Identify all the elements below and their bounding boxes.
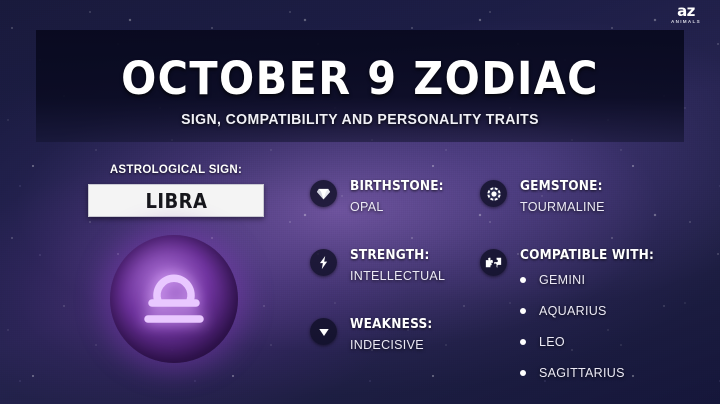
gem-icon [480, 180, 507, 207]
attribute-value-weakness: INDECISIVE [350, 338, 442, 352]
attribute-label-compatible-with: COMPATIBLE WITH: [520, 247, 654, 263]
infographic-canvas: az ANIMALS OCTOBER 9 ZODIAC SIGN, COMPAT… [0, 0, 720, 404]
attribute-row-weakness: WEAKNESS: INDECISIVE [310, 316, 442, 352]
header-band: OCTOBER 9 ZODIAC SIGN, COMPATIBILITY AND… [36, 30, 684, 142]
astrological-sign-value-box: LIBRA [88, 184, 264, 217]
bullet-icon [520, 370, 526, 376]
attribute-text-gemstone: GEMSTONE: TOURMALINE [520, 178, 612, 214]
attribute-value-gemstone: TOURMALINE [520, 200, 612, 214]
attribute-text-weakness: WEAKNESS: INDECISIVE [350, 316, 442, 352]
attribute-row-gemstone: GEMSTONE: TOURMALINE [480, 178, 612, 214]
astrological-sign-label: ASTROLOGICAL SIGN: [88, 164, 264, 176]
list-item: LEO [520, 335, 669, 349]
az-animals-logo[interactable]: az ANIMALS [664, 4, 708, 28]
attribute-value-birthstone: OPAL [350, 200, 454, 214]
attribute-row-compatible-with: COMPATIBLE WITH: GEMINI AQUARIUS LEO SAG… [480, 247, 669, 397]
attribute-text-birthstone: BIRTHSTONE: OPAL [350, 178, 454, 214]
astrological-sign-value: LIBRA [145, 189, 207, 213]
attribute-text-strength: STRENGTH: INTELLECTUAL [350, 247, 445, 283]
list-item: AQUARIUS [520, 304, 669, 318]
attribute-text-compatible-with: COMPATIBLE WITH: GEMINI AQUARIUS LEO SAG… [520, 247, 669, 397]
brand-tagline: ANIMALS [664, 19, 708, 25]
compatible-sign-label: LEO [539, 335, 565, 349]
lightning-bolt-icon [310, 249, 337, 276]
attribute-value-strength: INTELLECTUAL [350, 269, 445, 283]
page-title: OCTOBER 9 ZODIAC [62, 56, 658, 102]
bullet-icon [520, 308, 526, 314]
astrological-sign-block: ASTROLOGICAL SIGN: LIBRA [88, 164, 264, 217]
puzzle-pieces-icon [480, 249, 507, 276]
compatible-sign-label: AQUARIUS [539, 304, 607, 318]
compatible-sign-label: SAGITTARIUS [539, 366, 625, 380]
page-subtitle: SIGN, COMPATIBILITY AND PERSONALITY TRAI… [46, 112, 675, 128]
attribute-label-birthstone: BIRTHSTONE: [350, 178, 444, 194]
compatible-sign-label: GEMINI [539, 273, 585, 287]
list-item: GEMINI [520, 273, 669, 287]
libra-zodiac-symbol [110, 235, 238, 363]
diamond-icon [310, 180, 337, 207]
bullet-icon [520, 339, 526, 345]
down-triangle-icon [310, 318, 337, 345]
bullet-icon [520, 277, 526, 283]
attribute-row-birthstone: BIRTHSTONE: OPAL [310, 178, 454, 214]
attribute-label-weakness: WEAKNESS: [350, 316, 432, 332]
attribute-label-gemstone: GEMSTONE: [520, 178, 603, 194]
attribute-row-strength: STRENGTH: INTELLECTUAL [310, 247, 445, 283]
compatible-signs-list: GEMINI AQUARIUS LEO SAGITTARIUS [520, 273, 669, 380]
list-item: SAGITTARIUS [520, 366, 669, 380]
attribute-label-strength: STRENGTH: [350, 247, 436, 263]
brand-name: az [664, 4, 708, 19]
